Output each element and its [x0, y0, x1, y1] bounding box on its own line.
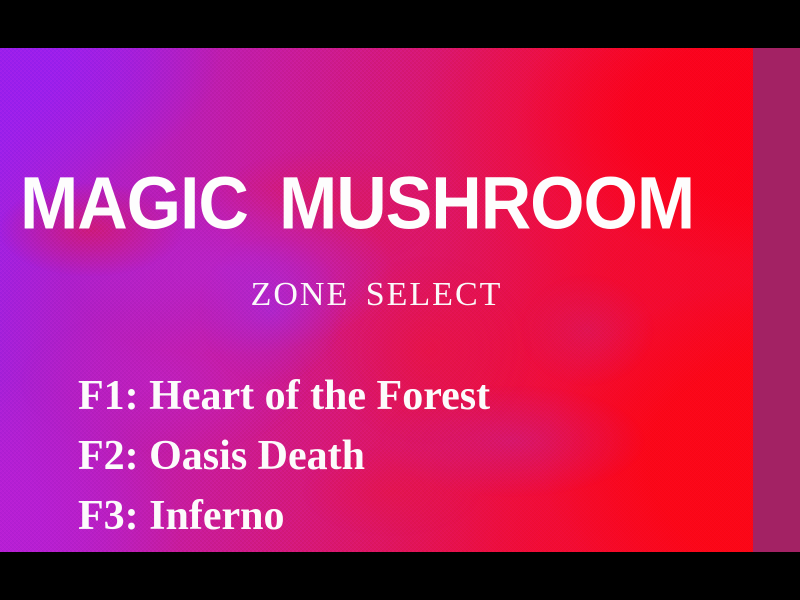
screen-content: MAGIC MUSHROOM ZONE SELECT F1: Heart of …	[0, 48, 753, 552]
letterbox-bar-top	[0, 0, 800, 48]
right-side-strip	[753, 48, 800, 552]
game-title: MAGIC MUSHROOM	[20, 168, 753, 237]
menu-item-f2[interactable]: F2: Oasis Death	[78, 426, 738, 486]
menu-item-f1[interactable]: F1: Heart of the Forest	[78, 366, 738, 426]
letterbox-bar-bottom	[0, 552, 800, 600]
zone-select-heading: ZONE SELECT	[0, 276, 753, 314]
game-screen: MAGIC MUSHROOM ZONE SELECT F1: Heart of …	[0, 0, 800, 600]
menu-item-f3[interactable]: F3: Inferno	[78, 486, 738, 546]
zone-select-menu: F1: Heart of the Forest F2: Oasis Death …	[78, 366, 738, 546]
game-viewport: MAGIC MUSHROOM ZONE SELECT F1: Heart of …	[0, 48, 753, 552]
